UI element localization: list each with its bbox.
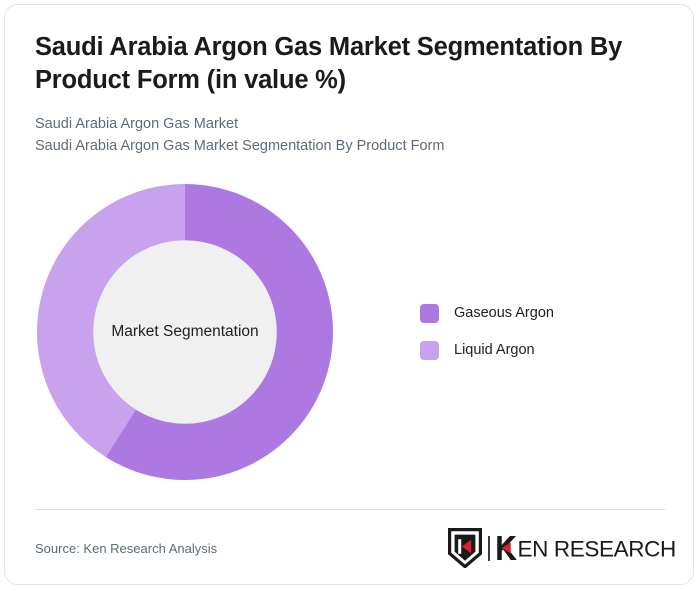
chart-header: Saudi Arabia Argon Gas Market Segmentati… xyxy=(35,31,635,157)
ken-research-shield-icon xyxy=(448,528,482,568)
chart-area: Market Segmentation Gaseous Argon Liquid… xyxy=(5,173,694,495)
legend-swatch-icon-gaseous-argon xyxy=(420,304,439,323)
subtitle-line-market: Saudi Arabia Argon Gas Market xyxy=(35,113,635,135)
legend-swatch-icon-liquid-argon xyxy=(420,341,439,360)
legend-item-gaseous-argon[interactable]: Gaseous Argon xyxy=(420,303,554,323)
footer-divider xyxy=(35,509,665,510)
chart-card: Saudi Arabia Argon Gas Market Segmentati… xyxy=(4,4,694,585)
legend-label-liquid-argon: Liquid Argon xyxy=(454,342,535,358)
chart-legend: Gaseous Argon Liquid Argon xyxy=(420,303,554,377)
donut-chart: Market Segmentation xyxy=(35,182,335,482)
page-title: Saudi Arabia Argon Gas Market Segmentati… xyxy=(35,31,635,96)
source-note: Source: Ken Research Analysis xyxy=(35,541,217,556)
ken-research-logo: EN RESEARCH xyxy=(448,526,678,570)
logo-divider xyxy=(488,536,490,561)
donut-hole xyxy=(93,240,277,424)
donut-svg xyxy=(35,182,335,482)
wordmark-text: EN RESEARCH xyxy=(517,536,675,561)
ken-research-wordmark: EN RESEARCH xyxy=(495,533,694,563)
legend-item-liquid-argon[interactable]: Liquid Argon xyxy=(420,340,554,360)
subtitle-line-segmentation: Saudi Arabia Argon Gas Market Segmentati… xyxy=(35,135,635,157)
legend-label-gaseous-argon: Gaseous Argon xyxy=(454,305,554,321)
shield-k-stem xyxy=(458,539,461,554)
subtitle-block: Saudi Arabia Argon Gas Market Saudi Arab… xyxy=(35,113,635,157)
